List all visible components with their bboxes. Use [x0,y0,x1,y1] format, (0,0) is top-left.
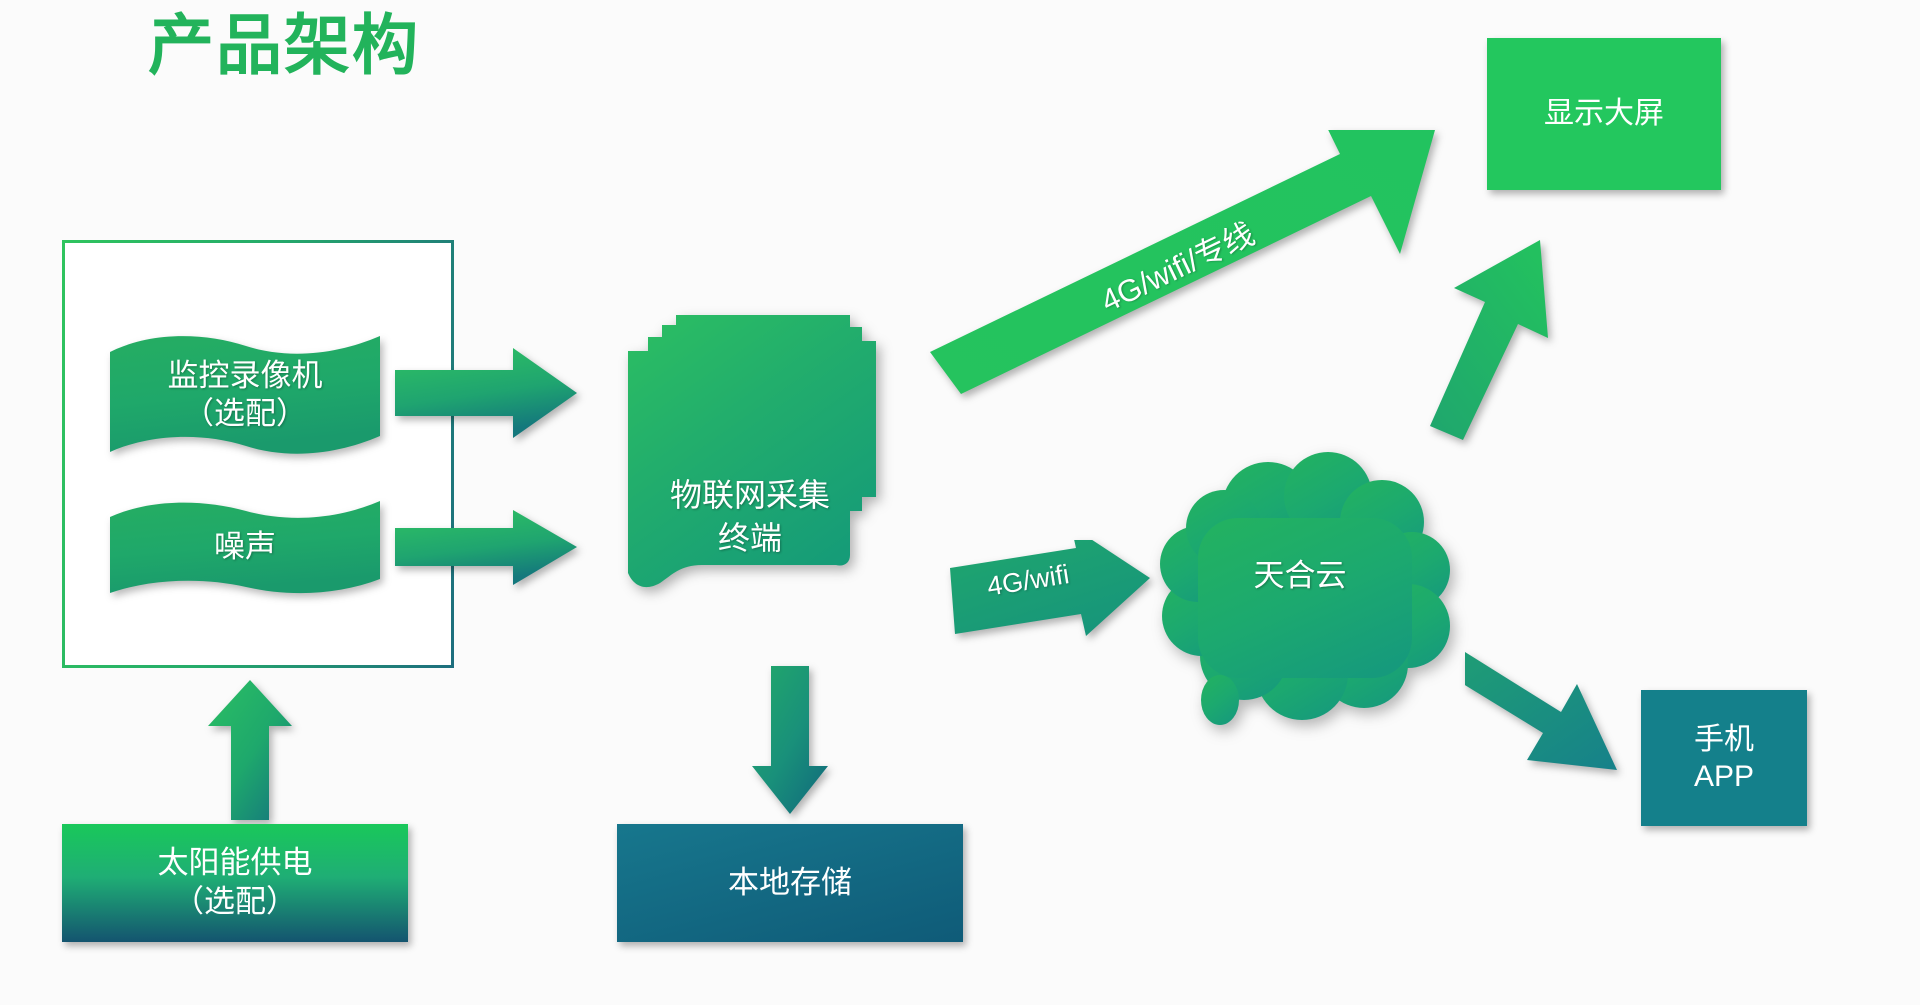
node-display-label-line1: 显示大屏 [1544,95,1664,133]
node-storage-label-line1: 本地存储 [728,864,852,903]
arrow-solar-to-group [208,680,292,820]
page-title: 产品架构 [148,8,420,84]
wave-shape [110,497,380,597]
arrow-terminal-to-storage [752,666,828,814]
diagonal-up-arrow-icon [1430,240,1580,440]
down-arrow-icon [752,666,828,814]
node-phone-label-line2: APP [1694,758,1754,796]
node-cloud-label-line1: 天合云 [1254,550,1347,595]
arrow-cloud-to-phone [1465,652,1645,782]
node-noise[interactable]: 噪声 [110,497,380,597]
node-nvr[interactable]: 监控录像机 （选配） [110,330,380,460]
node-terminal[interactable]: 物联网采集 终端 [610,315,890,665]
node-storage[interactable]: 本地存储 [617,824,963,942]
node-solar-label-line2: （选配） [173,883,297,922]
arrow-cloud-to-display [1430,240,1580,440]
up-arrow-icon [208,680,292,820]
node-display[interactable]: 显示大屏 [1487,38,1721,190]
node-solar-label-line1: 太阳能供电 [158,844,313,883]
arrow-terminal-to-display [930,130,1470,400]
right-arrow-icon [950,540,1160,650]
node-terminal-label-line2: 终端 [718,517,782,560]
node-phone-label-line1: 手机 [1694,721,1754,759]
diagonal-down-right-arrow-icon [1465,652,1645,782]
node-terminal-label: 物联网采集 终端 [610,315,890,665]
diagram-canvas: 产品架构 监控录像机 （选配） [0,0,1920,1005]
node-solar[interactable]: 太阳能供电 （选配） [62,824,408,942]
right-arrow-icon [395,510,585,585]
arrow-nvr-to-terminal [395,348,585,438]
node-cloud[interactable]: 天合云 [1150,438,1450,728]
right-arrow-icon [395,348,585,438]
node-phone[interactable]: 手机 APP [1641,690,1807,826]
node-terminal-label-line1: 物联网采集 [670,474,830,517]
arrow-terminal-to-cloud [950,540,1160,650]
node-cloud-label: 天合云 [1150,438,1450,728]
arrow-noise-to-terminal [395,510,585,585]
diagonal-up-right-arrow-icon [930,130,1470,400]
wave-shape [110,330,380,460]
